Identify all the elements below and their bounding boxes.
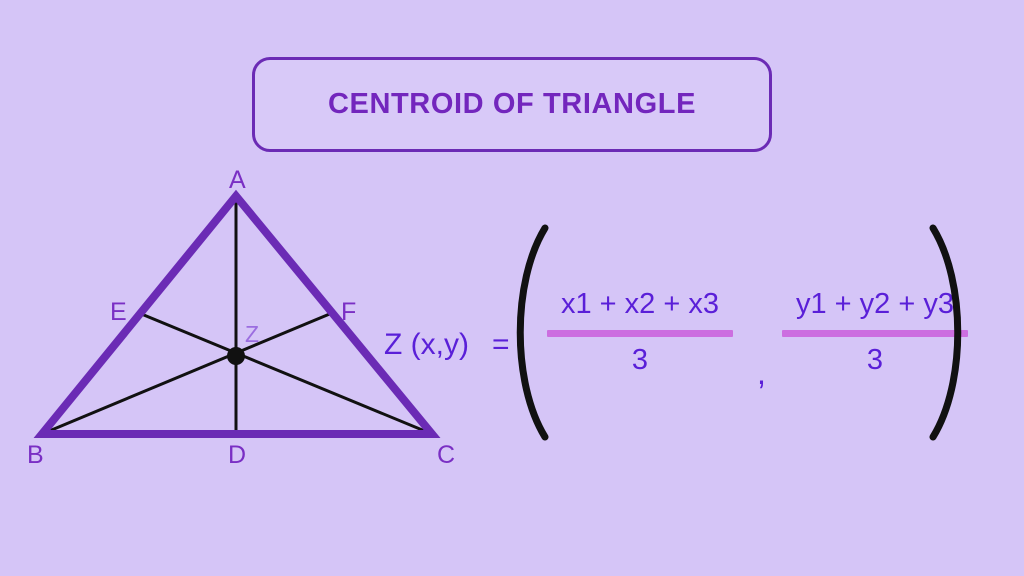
midpoint-label-e: E [110,300,127,325]
formula-separator: , [757,357,766,389]
centroid-dot [227,347,245,365]
x-fraction: x1 + x2 + x3 3 [535,288,745,378]
x-fraction-bar [547,330,733,337]
formula-lhs: Z (x,y) [384,328,469,362]
formula-block: Z (x,y) = x1 + x2 + x3 3 , y1 + y2 + y3 … [380,220,1000,445]
vertex-label-c: C [437,443,455,468]
x-numerator: x1 + x2 + x3 [535,288,745,321]
vertex-label-a: A [229,168,246,193]
right-paren-icon [920,220,980,445]
page-title: CENTROID OF TRIANGLE [328,88,696,121]
centroid-label-z: Z [245,323,259,346]
slide-canvas: CENTROID OF TRIANGLE A B C D E F Z Z (x,… [0,0,1024,576]
x-denominator: 3 [535,344,745,377]
midpoint-label-f: F [341,300,356,325]
midpoint-label-d: D [228,443,246,468]
title-box: CENTROID OF TRIANGLE [252,57,772,152]
vertex-label-b: B [27,443,44,468]
